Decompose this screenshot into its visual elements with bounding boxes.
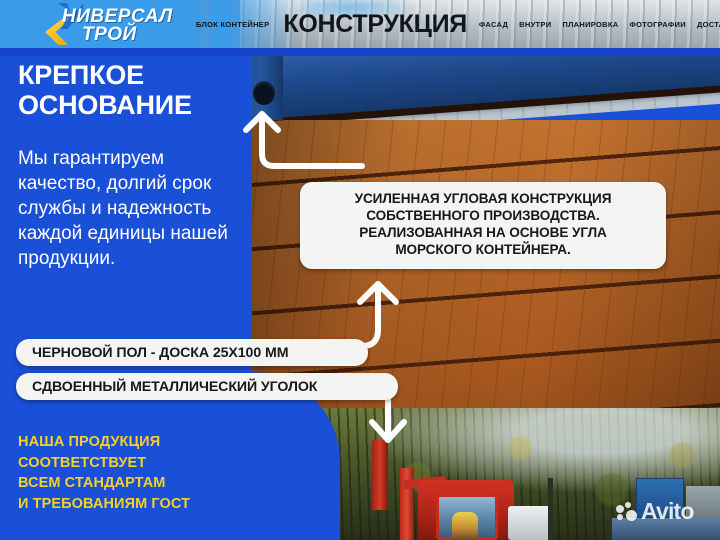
brand-logo[interactable]: НИВЕРСАЛ ТРОЙ xyxy=(26,1,186,47)
nav-item-fasad[interactable]: ФАСАД xyxy=(479,20,508,29)
corner-pointer-arrow-icon xyxy=(236,110,366,180)
gost-line-3: ВСЕМ СТАНДАРТАМ xyxy=(18,473,248,494)
gost-line-2: СООТВЕТСТВУЕТ xyxy=(18,453,248,474)
panel-description: Мы гарантируем качество, долгий срок слу… xyxy=(18,146,240,271)
gost-line-1: НАША ПРОДУКЦИЯ xyxy=(18,432,248,453)
floor-pointer-arrow-icon xyxy=(352,280,472,360)
gost-compliance-text: НАША ПРОДУКЦИЯ СООТВЕТСТВУЕТ ВСЕМ СТАНДА… xyxy=(18,432,248,514)
nav-item-fotografii[interactable]: ФОТОГРАФИИ xyxy=(629,20,685,29)
nav-item-konstrukciya[interactable]: КОНСТРУКЦИЯ xyxy=(283,10,467,39)
nav-item-blok-konteiner[interactable]: БЛОК КОНТЕЙНЕР xyxy=(196,20,269,29)
callout-main-line-2: СОБСТВЕННОГО ПРОИЗВОДСТВА. xyxy=(310,208,656,225)
avito-watermark-label: Avito xyxy=(641,500,694,523)
logo-text-line2: ТРОЙ xyxy=(82,25,137,44)
photo-truck-driver xyxy=(452,512,478,540)
callout-double-metal-angle: СДВОЕННЫЙ МЕТАЛЛИЧЕСКИЙ УГОЛОК xyxy=(16,373,398,400)
header-accent-strip xyxy=(0,48,720,56)
headline-line-1: КРЕПКОЕ xyxy=(18,60,250,90)
photo-utility-pole xyxy=(548,478,553,540)
callout-main-line-1: УСИЛЕННАЯ УГЛОВАЯ КОНСТРУКЦИЯ xyxy=(310,191,656,208)
nav-item-planirovka[interactable]: ПЛАНИРОВКА xyxy=(562,20,618,29)
page-title: КРЕПКОЕ ОСНОВАНИЕ xyxy=(18,60,250,120)
callout-main-line-3: РЕАЛИЗОВАННАЯ НА ОСНОВЕ УГЛА xyxy=(310,225,656,242)
headline-line-2: ОСНОВАНИЕ xyxy=(18,90,250,120)
callout-subfloor: ЧЕРНОВОЙ ПОЛ - ДОСКА 25Х100 ММ xyxy=(16,339,368,366)
promo-banner: НИВЕРСАЛ ТРОЙ БЛОК КОНТЕЙНЕР КОНСТРУКЦИЯ… xyxy=(0,0,720,540)
callout-main-line-4: МОРСКОГО КОНТЕЙНЕРА. xyxy=(310,242,656,259)
gost-line-4: И ТРЕБОВАНИЯМ ГОСТ xyxy=(18,494,248,515)
photo-corner-casting-hole xyxy=(253,81,275,105)
callout-reinforced-corner: УСИЛЕННАЯ УГЛОВАЯ КОНСТРУКЦИЯ СОБСТВЕННО… xyxy=(300,182,666,269)
nav-item-vnutri[interactable]: ВНУТРИ xyxy=(519,20,551,29)
avito-watermark: Avito xyxy=(616,500,694,523)
site-header: НИВЕРСАЛ ТРОЙ БЛОК КОНТЕЙНЕР КОНСТРУКЦИЯ… xyxy=(0,0,720,48)
avito-dots-logo-icon xyxy=(616,502,638,522)
photo-white-truck-box xyxy=(508,506,552,540)
main-navigation[interactable]: БЛОК КОНТЕЙНЕР КОНСТРУКЦИЯ ФАСАД ВНУТРИ … xyxy=(196,0,714,48)
nav-item-dostavka[interactable]: ДОСТАВКА xyxy=(697,20,720,29)
